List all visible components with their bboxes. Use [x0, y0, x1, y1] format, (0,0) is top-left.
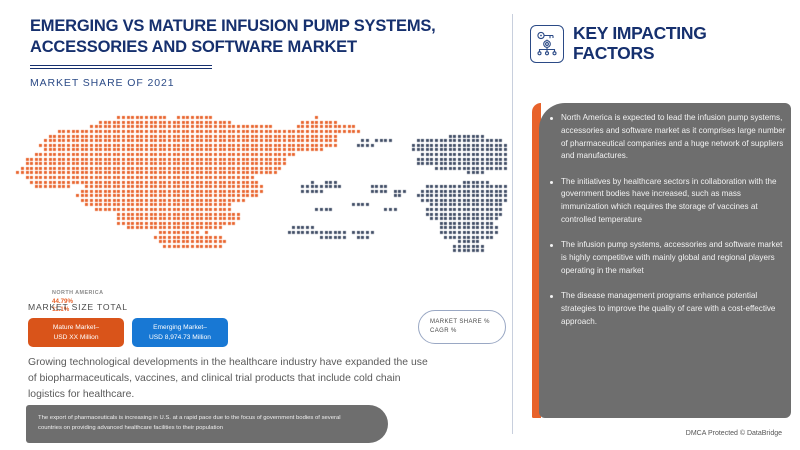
- world-map-dots: [14, 100, 509, 300]
- key-network-icon: [530, 25, 564, 63]
- page-subtitle: MARKET SHARE OF 2021: [30, 77, 480, 89]
- key-factors-header: KEY IMPACTING FACTORS: [530, 24, 707, 63]
- page-title: EMERGING VS MATURE INFUSION PUMP SYSTEMS…: [30, 16, 480, 59]
- right-column: KEY IMPACTING FACTORS North America is e…: [512, 0, 800, 450]
- legend-market-share-label: MARKET SHARE %: [430, 318, 505, 327]
- dmca-credit: DMCA Protected © DataBridge: [512, 430, 782, 437]
- mature-market-badge: Mature Market– USD XX Million: [28, 318, 124, 347]
- market-size-badges: Mature Market– USD XX Million Emerging M…: [28, 318, 228, 347]
- emerging-market-value: USD 8,974.73 Million: [141, 333, 219, 343]
- world-map: NORTH AMERICA 44.79% 11.1%: [14, 100, 509, 300]
- left-column: EMERGING VS MATURE INFUSION PUMP SYSTEMS…: [0, 0, 510, 450]
- factors-list: North America is expected to lead the in…: [550, 112, 788, 341]
- callout-text: The export of pharmaceuticals is increas…: [26, 414, 388, 433]
- list-item: The infusion pump systems, accessories a…: [550, 239, 788, 277]
- legend-cagr-label: CAGR %: [430, 327, 505, 336]
- body-paragraph: Growing technological developments in th…: [28, 355, 428, 402]
- emerging-market-badge: Emerging Market– USD 8,974.73 Million: [132, 318, 228, 347]
- callout-box: The export of pharmaceuticals is increas…: [26, 405, 388, 443]
- key-factors-title-line1: KEY IMPACTING: [573, 24, 707, 44]
- title-underline: [30, 65, 212, 69]
- list-item: The disease management programs enhance …: [550, 290, 788, 328]
- map-legend-key: MARKET SHARE % CAGR %: [418, 310, 506, 344]
- infographic-page: EMERGING VS MATURE INFUSION PUMP SYSTEMS…: [0, 0, 800, 450]
- key-factors-title-line2: FACTORS: [573, 44, 707, 64]
- mature-market-label: Mature Market–: [37, 323, 115, 333]
- mature-market-value: USD XX Million: [37, 333, 115, 343]
- list-item: The initiatives by healthcare sectors in…: [550, 176, 788, 227]
- title-block: EMERGING VS MATURE INFUSION PUMP SYSTEMS…: [30, 16, 480, 89]
- emerging-market-label: Emerging Market–: [141, 323, 219, 333]
- market-size-heading: MARKET SIZE TOTAL: [28, 302, 128, 312]
- list-item: North America is expected to lead the in…: [550, 112, 788, 163]
- key-factors-title: KEY IMPACTING FACTORS: [573, 24, 707, 63]
